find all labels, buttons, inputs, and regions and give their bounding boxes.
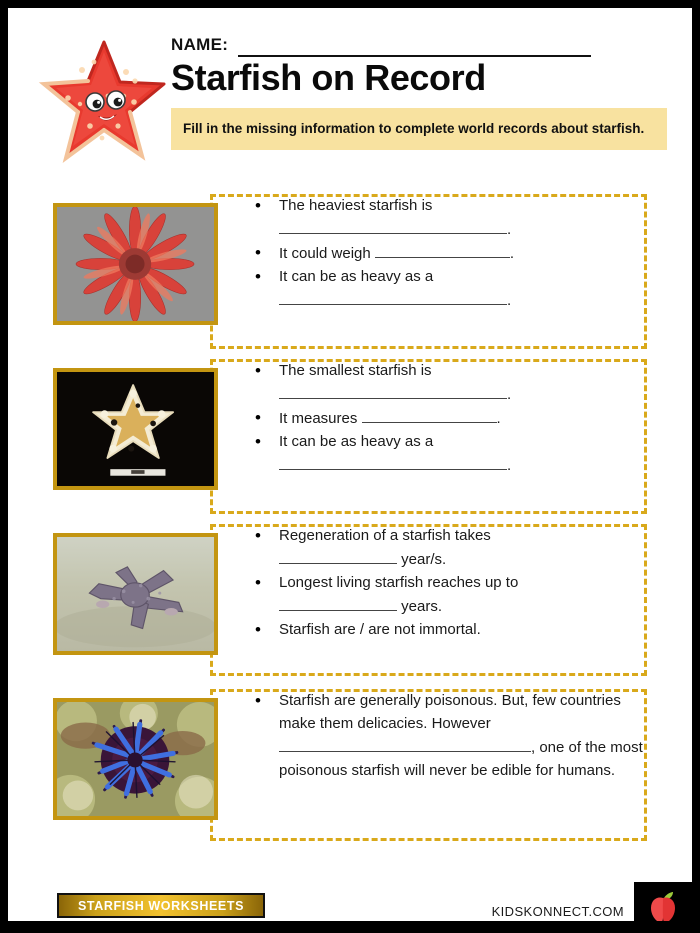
answer-blank[interactable] [279,288,507,305]
footer-black-bar [0,921,700,933]
answer-blank[interactable] [279,217,507,234]
record-bullet-list-3: Regeneration of a starfish takes year/s.… [253,524,643,641]
bullet-text: It could weigh [279,245,371,262]
answer-blank[interactable] [375,241,510,258]
photo-regenerating-starfish [53,533,218,655]
bullet-text: Longest living starfish reaches up to [279,574,518,591]
worksheet-series-banner: STARFISH WORKSHEETS [57,893,265,918]
photo-smallest-starfish [53,368,218,490]
bullet-post: . [497,410,501,427]
bullet-post: . [507,292,511,309]
list-item: Starfish are / are not immortal. [253,618,643,641]
bullet-text: It measures [279,410,357,427]
answer-blank[interactable] [279,735,531,752]
record-bullet-list-4: Starfish are generally poisonous. But, f… [253,689,643,782]
site-url: KIDSKONNECT.COM [492,904,624,919]
list-item: Starfish are generally poisonous. But, f… [253,689,643,782]
bullet-text: The smallest starfish is [279,362,432,379]
record-row-2: The smallest starfish is . It measures .… [8,359,692,514]
bullet-post: year/s. [397,551,446,568]
instructions-text: Fill in the missing information to compl… [183,119,655,138]
starfish-mascot-icon [38,34,173,169]
list-item: It can be as heavy as a . [253,265,643,312]
answer-blank[interactable] [279,382,507,399]
record-row-4: Starfish are generally poisonous. But, f… [8,689,692,841]
name-label: NAME: [171,35,228,55]
instructions-box: Fill in the missing information to compl… [171,108,667,150]
banner-label: STARFISH WORKSHEETS [78,899,244,913]
record-bullet-list-1: The heaviest starfish is . It could weig… [253,194,643,312]
bullet-post: . [507,457,511,474]
bullet-text: Regeneration of a starfish takes [279,527,491,544]
bullet-post: . [510,245,514,262]
worksheet-sheet: NAME: Starfish on Record Fill in the mis… [8,8,692,925]
photo-crown-of-thorns-starfish [53,698,218,820]
worksheet-page: NAME: Starfish on Record Fill in the mis… [0,0,700,933]
list-item: It measures . [253,406,643,430]
bullet-post: . [507,386,511,403]
list-item: Longest living starfish reaches up to ye… [253,571,643,618]
bullet-text: It can be as heavy as a [279,268,433,285]
answer-blank[interactable] [279,547,397,564]
list-item: Regeneration of a starfish takes year/s. [253,524,643,571]
list-item: The heaviest starfish is . [253,194,643,241]
list-item: It could weigh . [253,241,643,265]
answer-blank[interactable] [279,594,397,611]
page-title: Starfish on Record [171,57,486,99]
answer-blank[interactable] [279,453,507,470]
bullet-text: Starfish are / are not immortal. [279,621,481,638]
list-item: The smallest starfish is . [253,359,643,406]
record-row-1: The heaviest starfish is . It could weig… [8,194,692,349]
bullet-text: The heaviest starfish is [279,197,432,214]
answer-blank[interactable] [362,406,497,423]
bullet-text: It can be as heavy as a [279,433,433,450]
record-row-3: Regeneration of a starfish takes year/s.… [8,524,692,676]
record-bullet-list-2: The smallest starfish is . It measures .… [253,359,643,477]
bullet-post: years. [397,598,442,615]
bullet-post: . [507,221,511,238]
bullet-text: Starfish are generally poisonous. But, f… [279,692,621,732]
list-item: It can be as heavy as a . [253,430,643,477]
photo-heaviest-starfish [53,203,218,325]
